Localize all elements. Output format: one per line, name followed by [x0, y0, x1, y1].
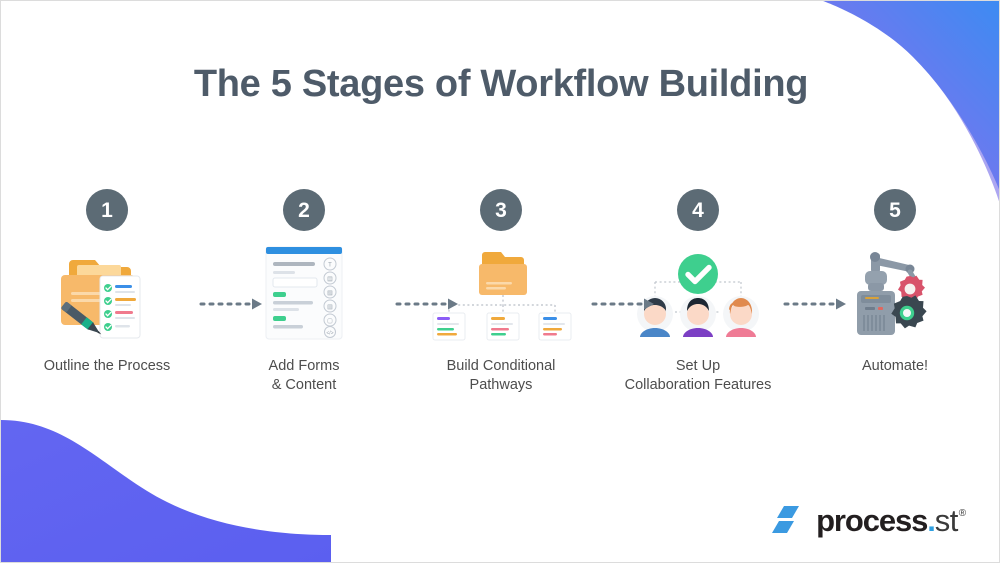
- step-4-number: 4: [677, 189, 719, 231]
- decorative-corner-bottom-left: [1, 372, 331, 562]
- step-1: 1: [21, 189, 193, 376]
- logo-suffix-st: st: [935, 505, 958, 536]
- folder-checklist-pen-icon: [53, 244, 161, 342]
- page-title: The 5 Stages of Workflow Building: [1, 63, 1000, 106]
- process-st-logo-text: process.st®: [816, 505, 965, 536]
- steps-row: 1: [21, 189, 981, 399]
- svg-text:▢: ▢: [327, 319, 333, 325]
- team-avatars-checkmark-icon: [633, 244, 763, 342]
- step-4-label: Set Up Collaboration Features: [625, 357, 772, 395]
- step-2-label: Add Forms & Content: [269, 357, 340, 395]
- step-3: 3: [415, 189, 587, 395]
- process-st-logo-mark: [771, 504, 805, 536]
- infographic-slide: The 5 Stages of Workflow Building 1: [0, 0, 1000, 563]
- step-5-art: [849, 243, 941, 343]
- step-2: 2: [218, 189, 390, 395]
- folder-branching-documents-icon: [427, 244, 575, 342]
- robot-arm-gears-icon: [849, 245, 941, 341]
- logo-registered-mark: ®: [959, 509, 965, 519]
- step-4: 4: [612, 189, 784, 395]
- arrow-4-to-5: [783, 297, 849, 311]
- logo-dot: .: [927, 505, 935, 536]
- arrow-1-to-2: [199, 297, 265, 311]
- step-3-label: Build Conditional Pathways: [447, 357, 556, 395]
- step-2-number: 2: [283, 189, 325, 231]
- svg-text:T: T: [328, 263, 332, 269]
- step-3-art: [427, 243, 575, 343]
- step-4-art: [633, 243, 763, 343]
- step-1-label: Outline the Process: [44, 357, 171, 376]
- step-1-art: [53, 243, 161, 343]
- process-st-logo: process.st®: [771, 504, 965, 536]
- logo-word-process: process: [816, 505, 927, 536]
- arrow-2-to-3: [395, 297, 461, 311]
- arrow-3-to-4: [591, 297, 657, 311]
- step-5-label: Automate!: [862, 357, 928, 376]
- svg-text:▨: ▨: [327, 291, 333, 297]
- step-2-art: T ▤ ▨ ▥ ▢ </>: [262, 243, 346, 343]
- svg-text:</>: </>: [326, 330, 333, 336]
- step-5: 5: [809, 189, 981, 376]
- step-5-number: 5: [874, 189, 916, 231]
- step-1-number: 1: [86, 189, 128, 231]
- step-3-number: 3: [480, 189, 522, 231]
- form-builder-icon: T ▤ ▨ ▥ ▢ </>: [262, 243, 346, 343]
- svg-text:▥: ▥: [327, 305, 333, 311]
- svg-text:▤: ▤: [327, 277, 333, 283]
